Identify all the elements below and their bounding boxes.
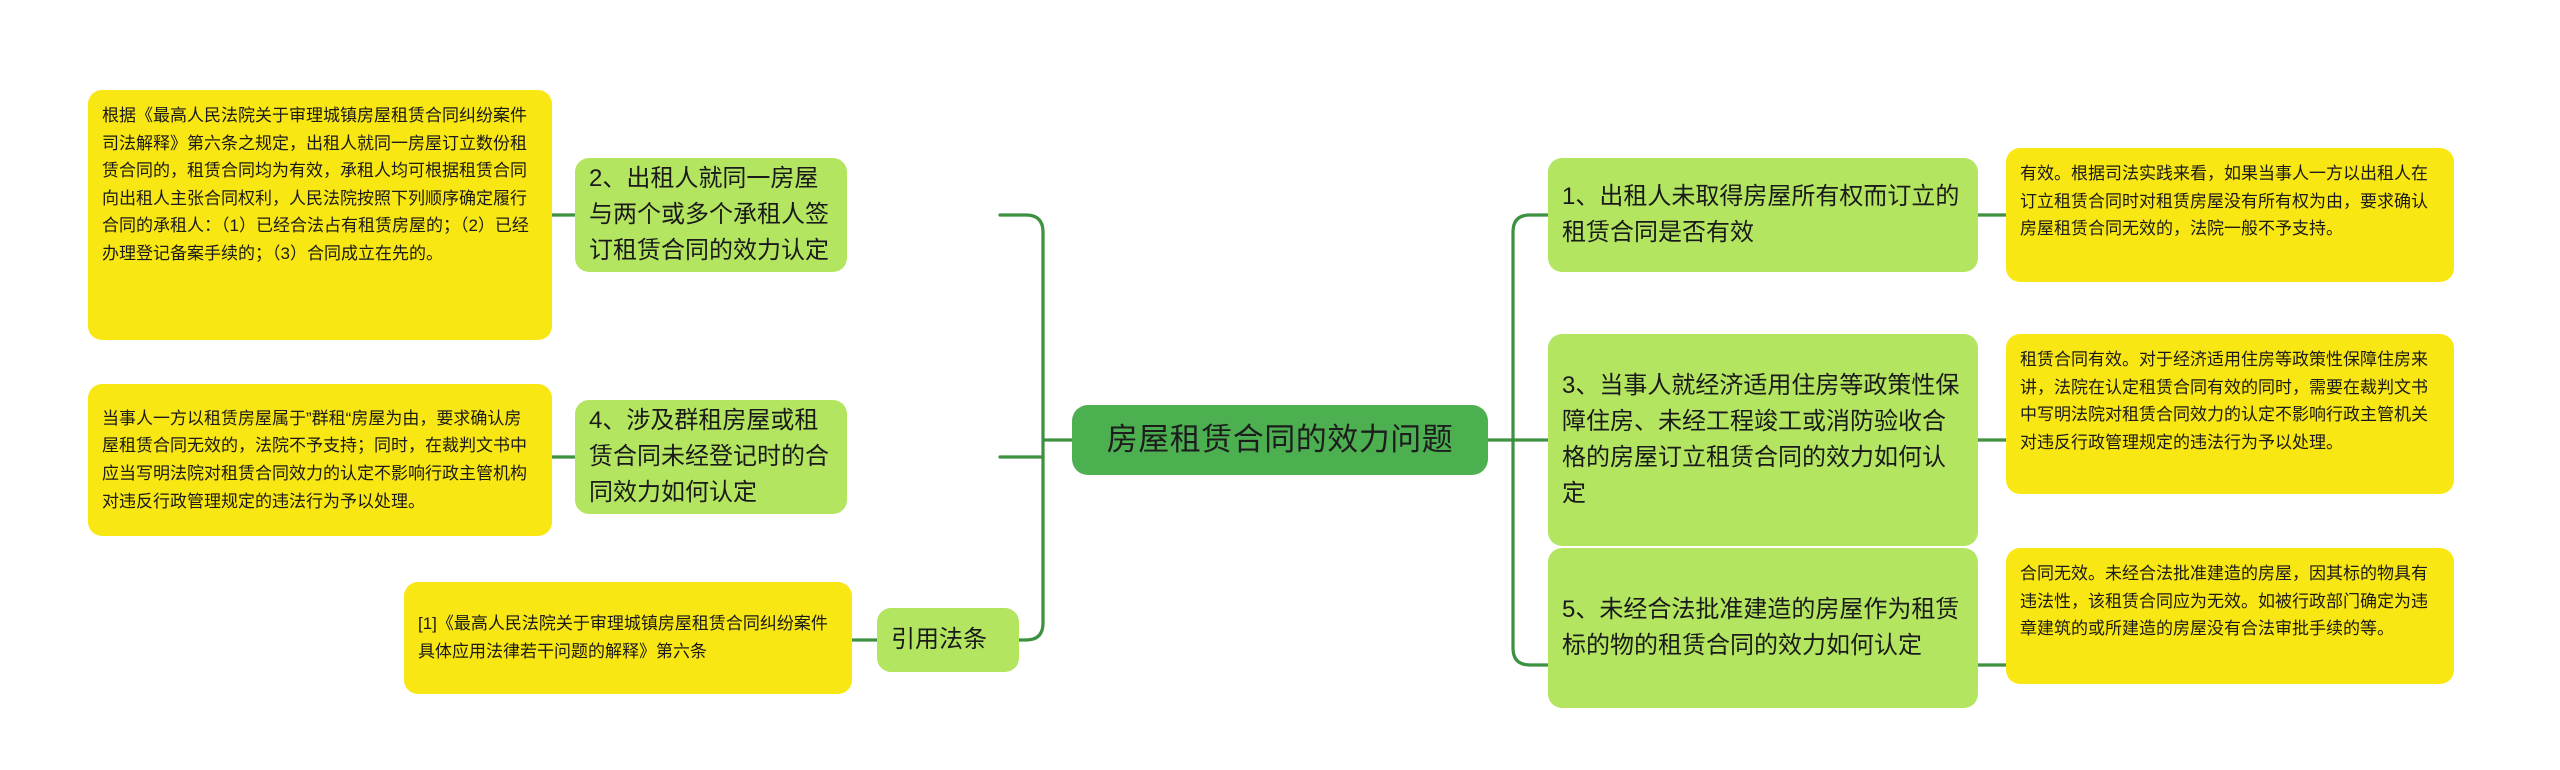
branch-node-3-label: 3、当事人就经济适用住房等政策性保障住房、未经工程竣工或消防验收合格的房屋订立租… bbox=[1562, 368, 1964, 512]
branch-node-5[interactable]: 5、未经合法批准建造的房屋作为租赁标的物的租赁合同的效力如何认定 bbox=[1548, 548, 1978, 708]
leaf-node-citation-detail-text: [1]《最高人民法院关于审理城镇房屋租赁合同纠纷案件具体应用法律若干问题的解释》… bbox=[418, 610, 838, 665]
branch-node-4-label: 4、涉及群租房屋或租赁合同未经登记时的合同效力如何认定 bbox=[589, 403, 833, 511]
branch-node-3[interactable]: 3、当事人就经济适用住房等政策性保障住房、未经工程竣工或消防验收合格的房屋订立租… bbox=[1548, 334, 1978, 546]
connector-left-branch-2 bbox=[1000, 215, 1043, 232]
branch-node-citation-label: 引用法条 bbox=[891, 622, 987, 658]
leaf-node-4-detail[interactable]: 当事人一方以租赁房屋属于”群租“房屋为由，要求确认房屋租赁合同无效的，法院不予支… bbox=[88, 384, 552, 536]
leaf-node-3-detail[interactable]: 租赁合同有效。对于经济适用住房等政策性保障住房来讲，法院在认定租赁合同有效的同时… bbox=[2006, 334, 2454, 494]
root-node-label: 房屋租赁合同的效力问题 bbox=[1107, 417, 1454, 464]
leaf-node-2-detail[interactable]: 根据《最高人民法院关于审理城镇房屋租赁合同纠纷案件司法解释》第六条之规定，出租人… bbox=[88, 90, 552, 340]
branch-node-5-label: 5、未经合法批准建造的房屋作为租赁标的物的租赁合同的效力如何认定 bbox=[1562, 592, 1964, 664]
leaf-node-1-detail[interactable]: 有效。根据司法实践来看，如果当事人一方以出租人在订立租赁合同时对租赁房屋没有所有… bbox=[2006, 148, 2454, 282]
leaf-node-5-detail-text: 合同无效。未经合法批准建造的房屋，因其标的物具有违法性，该租赁合同应为无效。如被… bbox=[2020, 560, 2440, 643]
connector-right-branch-5 bbox=[1513, 648, 1548, 665]
leaf-node-1-detail-text: 有效。根据司法实践来看，如果当事人一方以出租人在订立租赁合同时对租赁房屋没有所有… bbox=[2020, 160, 2440, 243]
leaf-node-5-detail[interactable]: 合同无效。未经合法批准建造的房屋，因其标的物具有违法性，该租赁合同应为无效。如被… bbox=[2006, 548, 2454, 684]
branch-node-1-label: 1、出租人未取得房屋所有权而订立的租赁合同是否有效 bbox=[1562, 179, 1964, 251]
branch-node-4[interactable]: 4、涉及群租房屋或租赁合同未经登记时的合同效力如何认定 bbox=[575, 400, 847, 514]
branch-node-2-label: 2、出租人就同一房屋与两个或多个承租人签订租赁合同的效力认定 bbox=[589, 161, 833, 269]
leaf-node-3-detail-text: 租赁合同有效。对于经济适用住房等政策性保障住房来讲，法院在认定租赁合同有效的同时… bbox=[2020, 346, 2440, 456]
leaf-node-citation-detail[interactable]: [1]《最高人民法院关于审理城镇房屋租赁合同纠纷案件具体应用法律若干问题的解释》… bbox=[404, 582, 852, 694]
connector-right-branch-1 bbox=[1513, 215, 1548, 232]
branch-node-1[interactable]: 1、出租人未取得房屋所有权而订立的租赁合同是否有效 bbox=[1548, 158, 1978, 272]
branch-node-citation[interactable]: 引用法条 bbox=[877, 608, 1019, 672]
mindmap-canvas: 房屋租赁合同的效力问题 2、出租人就同一房屋与两个或多个承租人签订租赁合同的效力… bbox=[0, 0, 2560, 770]
root-node[interactable]: 房屋租赁合同的效力问题 bbox=[1072, 405, 1488, 475]
branch-node-2[interactable]: 2、出租人就同一房屋与两个或多个承租人签订租赁合同的效力认定 bbox=[575, 158, 847, 272]
leaf-node-4-detail-text: 当事人一方以租赁房屋属于”群租“房屋为由，要求确认房屋租赁合同无效的，法院不予支… bbox=[102, 405, 538, 515]
leaf-node-2-detail-text: 根据《最高人民法院关于审理城镇房屋租赁合同纠纷案件司法解释》第六条之规定，出租人… bbox=[102, 102, 538, 267]
